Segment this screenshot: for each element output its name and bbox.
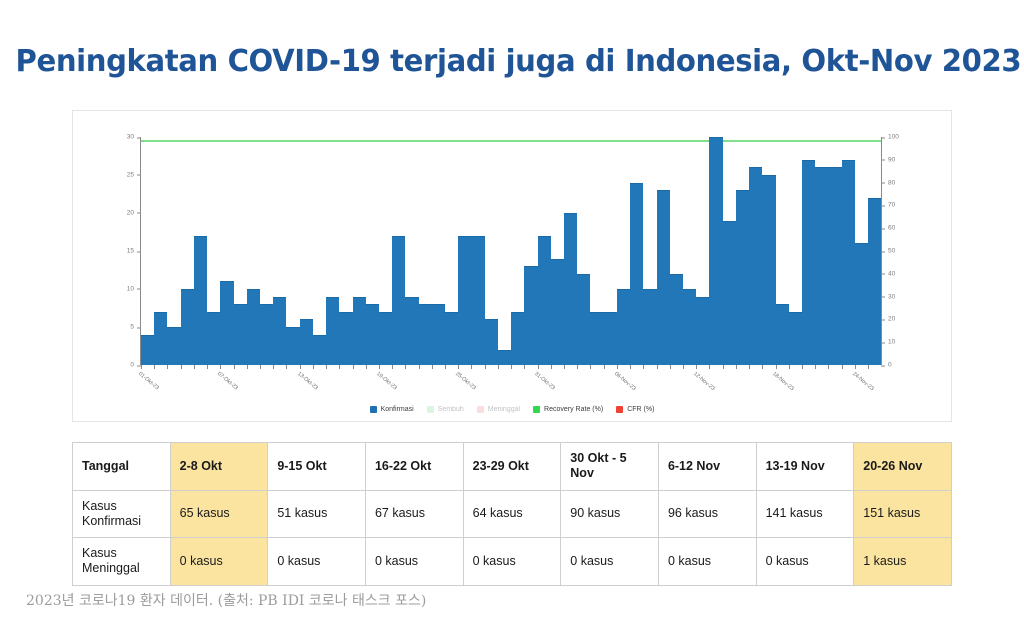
chart-bar — [234, 304, 247, 365]
y-tick-right: 60 — [881, 225, 895, 232]
chart-bar — [194, 236, 207, 365]
table-cell: 65 kasus — [170, 490, 268, 538]
chart-bar — [300, 319, 313, 365]
legend-item[interactable]: Sembuh — [427, 406, 464, 413]
chart-bar — [855, 243, 868, 365]
chart-bar — [789, 312, 802, 365]
table-cell: 51 kasus — [268, 490, 366, 538]
x-axis-label: 01-Okt-23 — [137, 371, 160, 391]
chart-bar — [471, 236, 484, 365]
x-axis-label: 25-Okt-23 — [454, 371, 477, 391]
y-tick-left: 10 — [127, 285, 141, 292]
legend-label: Konfirmasi — [381, 406, 414, 413]
x-axis-label: 19-Okt-23 — [375, 371, 398, 391]
chart-bar — [657, 190, 670, 365]
y-tick-right: 0 — [881, 362, 892, 369]
chart-plot-area: 051015202530 0102030405060708090100 01-O… — [141, 137, 881, 365]
legend-label: CFR (%) — [627, 406, 654, 413]
table-cell: 0 kasus — [463, 538, 561, 586]
table-header-row: Tanggal2-8 Okt9-15 Okt16-22 Okt23-29 Okt… — [73, 443, 952, 491]
chart-bar — [141, 335, 154, 365]
table-cell: 64 kasus — [463, 490, 561, 538]
table-column-header: 20-26 Nov — [854, 443, 952, 491]
chart-legend: KonfirmasiSembuhMeninggalRecovery Rate (… — [73, 406, 951, 413]
legend-item[interactable]: Meninggal — [477, 406, 520, 413]
legend-swatch-icon — [616, 406, 623, 413]
table-row: Kasus Konfirmasi65 kasus51 kasus67 kasus… — [73, 490, 952, 538]
y-tick-right: 90 — [881, 156, 895, 163]
x-axis-label: 06-Nov-23 — [613, 371, 637, 392]
chart-bar — [538, 236, 551, 365]
table-cell: 0 kasus — [756, 538, 854, 586]
summary-table-container: Tanggal2-8 Okt9-15 Okt16-22 Okt23-29 Okt… — [72, 442, 952, 586]
x-axis-label: 31-Okt-23 — [534, 371, 557, 391]
chart-bar — [828, 167, 841, 365]
table-cell: 0 kasus — [170, 538, 268, 586]
legend-label: Recovery Rate (%) — [544, 406, 603, 413]
legend-item[interactable]: CFR (%) — [616, 406, 654, 413]
chart-bar — [353, 297, 366, 365]
page-title-container: Peningkatan COVID-19 terjadi juga di Ind… — [0, 44, 1024, 79]
table-cell: 90 kasus — [561, 490, 659, 538]
chart-bar — [432, 304, 445, 365]
legend-swatch-icon — [427, 406, 434, 413]
chart-bar — [392, 236, 405, 365]
chart-bar — [419, 304, 432, 365]
chart-bar — [736, 190, 749, 365]
legend-swatch-icon — [370, 406, 377, 413]
chart-bar — [260, 304, 273, 365]
chart-bar — [326, 297, 339, 365]
chart-bar — [776, 304, 789, 365]
y-tick-right: 40 — [881, 270, 895, 277]
y-tick-left: 0 — [130, 362, 141, 369]
chart-bar — [617, 289, 630, 365]
legend-swatch-icon — [533, 406, 540, 413]
chart-bar — [379, 312, 392, 365]
figure-caption: 2023년 코로나19 환자 데이터. (출처: PB IDI 코로나 태스크 … — [26, 590, 426, 610]
x-axis-label: 13-Okt-23 — [296, 371, 319, 391]
chart-bar — [181, 289, 194, 365]
legend-item[interactable]: Recovery Rate (%) — [533, 406, 603, 413]
chart-bar — [154, 312, 167, 365]
table-column-header: 2-8 Okt — [170, 443, 268, 491]
table-cell: 1 kasus — [854, 538, 952, 586]
chart-bar — [577, 274, 590, 365]
chart-bar — [339, 312, 352, 365]
chart-bar — [524, 266, 537, 365]
chart-bar — [815, 167, 828, 365]
table-cell: 67 kasus — [365, 490, 463, 538]
chart-bar — [498, 350, 511, 365]
legend-swatch-icon — [477, 406, 484, 413]
chart-bar — [762, 175, 775, 365]
table-corner-header: Tanggal — [73, 443, 171, 491]
table-row: Kasus Meninggal0 kasus0 kasus0 kasus0 ka… — [73, 538, 952, 586]
chart-bar — [723, 221, 736, 365]
table-column-header: 16-22 Okt — [365, 443, 463, 491]
chart-panel: 051015202530 0102030405060708090100 01-O… — [72, 110, 952, 422]
chart-bar — [485, 319, 498, 365]
y-tick-right: 80 — [881, 179, 895, 186]
table-column-header: 6-12 Nov — [658, 443, 756, 491]
chart-x-labels: 01-Okt-2307-Okt-2313-Okt-2319-Okt-2325-O… — [141, 365, 881, 405]
chart-bars — [141, 137, 881, 365]
y-tick-left: 25 — [127, 171, 141, 178]
y-tick-left: 5 — [130, 324, 141, 331]
x-axis-label: 12-Nov-23 — [692, 371, 716, 392]
x-axis-label: 07-Okt-23 — [216, 371, 239, 391]
table-cell: 96 kasus — [658, 490, 756, 538]
y-tick-left: 20 — [127, 209, 141, 216]
table-cell: 0 kasus — [268, 538, 366, 586]
chart-bar — [247, 289, 260, 365]
chart-bar — [167, 327, 180, 365]
chart-bar — [683, 289, 696, 365]
table-column-header: 30 Okt - 5 Nov — [561, 443, 659, 491]
table-column-header: 9-15 Okt — [268, 443, 366, 491]
chart-bar — [670, 274, 683, 365]
table-cell: 0 kasus — [365, 538, 463, 586]
table-cell: 0 kasus — [658, 538, 756, 586]
y-tick-right: 70 — [881, 202, 895, 209]
chart-bar — [511, 312, 524, 365]
y-tick-right: 30 — [881, 293, 895, 300]
chart-bar — [458, 236, 471, 365]
chart-bar — [366, 304, 379, 365]
y-tick-right: 50 — [881, 248, 895, 255]
table-row-header: Kasus Konfirmasi — [73, 490, 171, 538]
chart-bar — [405, 297, 418, 365]
chart-bar — [273, 297, 286, 365]
legend-label: Meninggal — [488, 406, 520, 413]
page-title: Peningkatan COVID-19 terjadi juga di Ind… — [16, 44, 1022, 79]
chart-bar — [696, 297, 709, 365]
summary-table: Tanggal2-8 Okt9-15 Okt16-22 Okt23-29 Okt… — [72, 442, 952, 586]
table-cell: 0 kasus — [561, 538, 659, 586]
chart-bar — [842, 160, 855, 365]
table-cell: 151 kasus — [854, 490, 952, 538]
y-tick-left: 30 — [127, 134, 141, 141]
y-tick-right: 100 — [881, 134, 899, 141]
chart-bar — [868, 198, 881, 365]
y-tick-right: 20 — [881, 316, 895, 323]
chart-bar — [709, 137, 722, 365]
chart-bar — [749, 167, 762, 365]
chart-bar — [564, 213, 577, 365]
table-cell: 141 kasus — [756, 490, 854, 538]
x-axis-label: 18-Nov-23 — [771, 371, 795, 392]
chart-bar — [313, 335, 326, 365]
x-axis-label: 24-Nov-23 — [851, 371, 875, 392]
table-body: Kasus Konfirmasi65 kasus51 kasus67 kasus… — [73, 490, 952, 585]
chart-bar — [551, 259, 564, 365]
chart-bar — [220, 281, 233, 365]
table-row-header: Kasus Meninggal — [73, 538, 171, 586]
table-column-header: 13-19 Nov — [756, 443, 854, 491]
legend-label: Sembuh — [438, 406, 464, 413]
chart-bar — [630, 183, 643, 365]
chart-bar — [643, 289, 656, 365]
chart-bar — [445, 312, 458, 365]
chart-bar — [590, 312, 603, 365]
chart-bar — [286, 327, 299, 365]
chart-bar — [604, 312, 617, 365]
legend-item[interactable]: Konfirmasi — [370, 406, 414, 413]
y-tick-left: 15 — [127, 248, 141, 255]
chart-bar — [207, 312, 220, 365]
table-column-header: 23-29 Okt — [463, 443, 561, 491]
chart-bar — [802, 160, 815, 365]
y-tick-right: 10 — [881, 339, 895, 346]
